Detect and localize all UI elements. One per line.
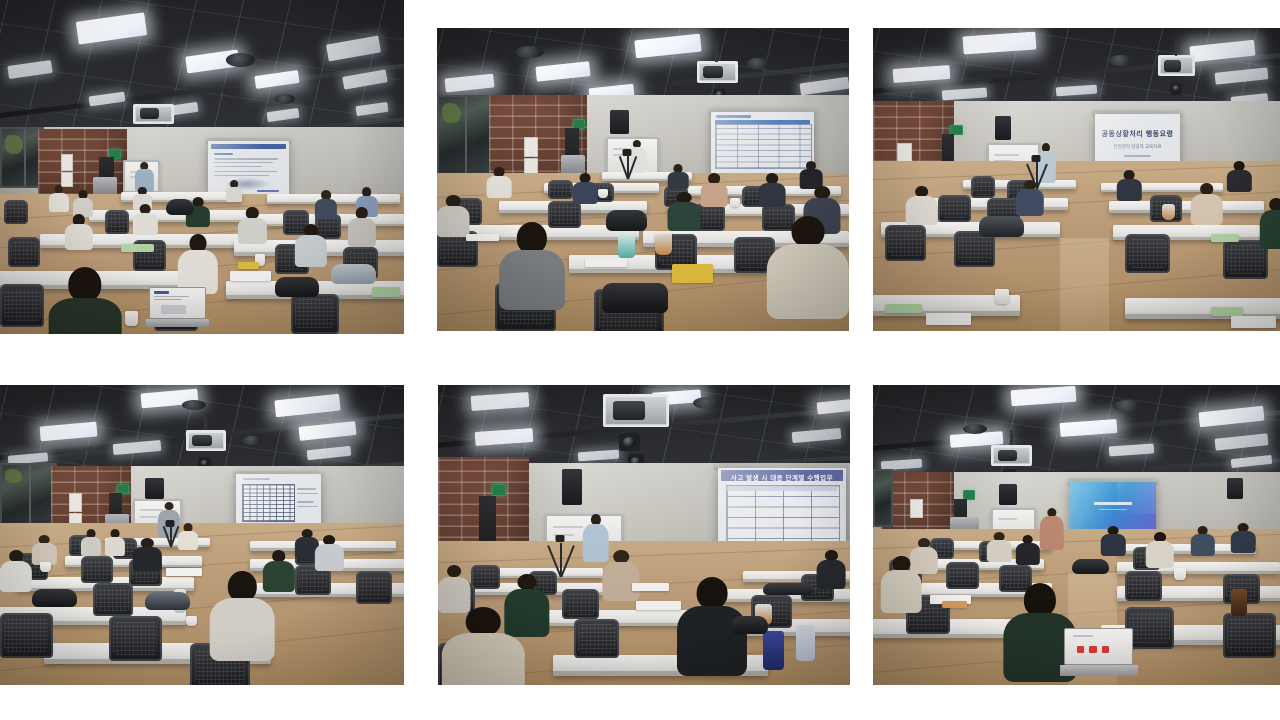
handout bbox=[632, 583, 669, 591]
paper-cup bbox=[598, 189, 609, 199]
student bbox=[758, 173, 785, 206]
handbag bbox=[1072, 559, 1109, 574]
instructor bbox=[1040, 508, 1064, 550]
chair bbox=[946, 562, 979, 589]
student bbox=[133, 538, 161, 571]
ceiling-speaker-dome bbox=[1113, 400, 1141, 412]
student bbox=[1190, 183, 1223, 225]
student bbox=[1101, 526, 1125, 556]
chair bbox=[562, 589, 599, 619]
student bbox=[1117, 170, 1141, 200]
projection-screen[interactable] bbox=[711, 112, 814, 173]
desk bbox=[1109, 201, 1264, 213]
student-foreground bbox=[442, 607, 524, 685]
photo-3[interactable]: 공동상황처리 행동요령 안전관리 담당자 교육자료 bbox=[873, 28, 1280, 331]
green-paper bbox=[885, 304, 922, 314]
student bbox=[817, 550, 846, 589]
yellow-handout bbox=[238, 262, 258, 269]
photo-4[interactable] bbox=[0, 385, 404, 685]
handout bbox=[1231, 316, 1276, 328]
student-foreground bbox=[499, 222, 565, 310]
student bbox=[486, 167, 511, 197]
drink-cup bbox=[618, 234, 634, 258]
student bbox=[906, 186, 939, 225]
student bbox=[1231, 523, 1255, 553]
wall-notice bbox=[61, 154, 74, 171]
laptop-case bbox=[763, 583, 812, 595]
handbag bbox=[731, 616, 768, 634]
handout bbox=[466, 234, 499, 241]
camera bbox=[1170, 83, 1182, 95]
student bbox=[603, 550, 640, 601]
chair bbox=[291, 294, 339, 334]
paper-cup bbox=[186, 616, 197, 626]
snack bbox=[942, 601, 966, 608]
student bbox=[133, 204, 157, 236]
water-bottle bbox=[796, 625, 815, 661]
tumbler bbox=[1231, 589, 1247, 616]
window bbox=[873, 469, 893, 527]
iced-drink bbox=[655, 231, 671, 255]
backpack bbox=[32, 589, 76, 607]
student bbox=[295, 224, 327, 267]
student bbox=[668, 192, 701, 231]
chair bbox=[1223, 613, 1276, 658]
chair bbox=[8, 237, 40, 267]
handout bbox=[230, 271, 270, 281]
green-paper bbox=[121, 244, 153, 252]
chair bbox=[1125, 571, 1162, 601]
backpack bbox=[275, 277, 319, 297]
backpack bbox=[166, 199, 194, 216]
paper-cup bbox=[995, 289, 1009, 304]
student bbox=[800, 161, 823, 188]
chair bbox=[93, 583, 133, 616]
line-array-speaker bbox=[999, 484, 1017, 505]
student bbox=[1260, 198, 1280, 250]
tumbler bbox=[763, 631, 784, 670]
chair bbox=[0, 284, 44, 327]
camera-tripod bbox=[162, 520, 178, 547]
projector bbox=[186, 430, 226, 451]
line-array-speaker bbox=[145, 478, 163, 499]
projection-screen[interactable] bbox=[208, 141, 289, 194]
student bbox=[437, 195, 470, 237]
projector bbox=[1158, 55, 1195, 76]
handout bbox=[636, 601, 681, 610]
paper-cup bbox=[125, 311, 138, 326]
backpack bbox=[606, 210, 647, 231]
ceiling-speaker-dome bbox=[1109, 55, 1133, 65]
paper-cup bbox=[1174, 568, 1186, 580]
student-foreground bbox=[210, 571, 275, 661]
projector bbox=[133, 104, 173, 124]
handout bbox=[585, 258, 626, 267]
laptop bbox=[1064, 628, 1133, 676]
projector bbox=[697, 61, 738, 82]
backpack bbox=[602, 283, 668, 313]
student bbox=[701, 173, 728, 206]
iced-drink bbox=[1162, 204, 1175, 220]
student-foreground bbox=[48, 267, 121, 334]
student bbox=[178, 234, 218, 294]
backpack bbox=[145, 592, 189, 610]
photo-6[interactable] bbox=[873, 385, 1280, 685]
student bbox=[65, 214, 93, 251]
green-paper bbox=[1211, 234, 1239, 242]
student bbox=[1146, 532, 1174, 568]
student bbox=[315, 535, 343, 571]
chair bbox=[105, 210, 129, 233]
student bbox=[573, 173, 598, 203]
student bbox=[178, 523, 198, 550]
exit-sign bbox=[492, 484, 506, 496]
photo-collage: 공동상황처리 행동요령 안전관리 담당자 교육자료 bbox=[0, 0, 1280, 720]
camera-tripod bbox=[618, 149, 634, 179]
student bbox=[238, 207, 266, 244]
student bbox=[347, 207, 375, 247]
student bbox=[1227, 161, 1251, 191]
chair bbox=[1125, 234, 1170, 273]
line-array-speaker bbox=[562, 469, 583, 505]
ceiling-speaker-dome bbox=[242, 436, 262, 445]
camera-tripod bbox=[549, 535, 570, 577]
chair bbox=[109, 616, 162, 661]
chair bbox=[938, 195, 971, 222]
student bbox=[1190, 526, 1214, 556]
ceiling-speaker-dome bbox=[746, 58, 771, 68]
chair bbox=[548, 180, 573, 200]
photo-5[interactable]: 사고 발생 시 대응 단계별 수행업무 bbox=[438, 385, 850, 685]
wall-notice bbox=[897, 143, 912, 163]
projection-screen[interactable] bbox=[236, 474, 321, 528]
student bbox=[1015, 180, 1043, 216]
green-paper bbox=[1211, 307, 1244, 316]
line-array-speaker bbox=[610, 110, 629, 134]
photo-2[interactable] bbox=[437, 28, 849, 331]
camera bbox=[619, 433, 640, 451]
student bbox=[668, 164, 689, 188]
chair bbox=[356, 571, 392, 604]
wall-notice bbox=[69, 493, 82, 512]
line-array-speaker bbox=[995, 116, 1011, 140]
student bbox=[881, 556, 922, 613]
student bbox=[987, 532, 1011, 562]
laptop bbox=[149, 287, 206, 327]
chair bbox=[0, 613, 53, 658]
chair bbox=[471, 565, 500, 589]
chair bbox=[885, 225, 926, 261]
chair bbox=[81, 556, 113, 583]
projector bbox=[991, 445, 1032, 466]
student bbox=[315, 190, 337, 218]
handout bbox=[926, 313, 971, 325]
window bbox=[437, 95, 495, 178]
ceiling-speaker-dome bbox=[275, 94, 295, 104]
projector bbox=[603, 394, 669, 427]
jacket bbox=[331, 264, 375, 284]
chair bbox=[574, 619, 619, 658]
line-array-speaker bbox=[1227, 478, 1243, 499]
student bbox=[81, 529, 101, 556]
yellow-folder bbox=[672, 264, 713, 282]
student-foreground bbox=[767, 216, 849, 319]
student bbox=[226, 180, 242, 202]
student bbox=[105, 529, 125, 556]
chair bbox=[971, 176, 995, 197]
handout bbox=[166, 568, 202, 576]
photo-1[interactable] bbox=[0, 0, 404, 334]
student bbox=[48, 185, 68, 212]
student bbox=[438, 565, 471, 613]
student bbox=[0, 550, 32, 592]
green-paper bbox=[372, 287, 400, 297]
paper-cup bbox=[730, 198, 741, 208]
backpack bbox=[979, 216, 1024, 237]
ceiling-speaker-dome bbox=[226, 53, 254, 66]
wall-notice bbox=[910, 499, 923, 518]
student bbox=[32, 535, 56, 565]
paper-cup bbox=[40, 562, 51, 572]
student bbox=[1015, 535, 1039, 565]
chair bbox=[4, 200, 28, 223]
wall-notice bbox=[524, 137, 538, 157]
